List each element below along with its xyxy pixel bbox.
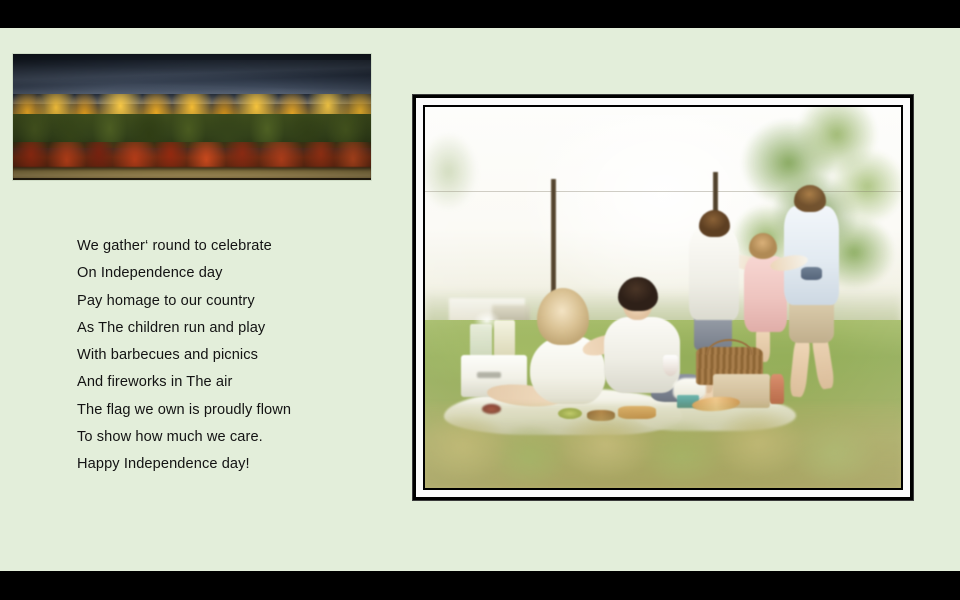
poem-line-8: To show how much we care.	[77, 424, 377, 451]
letterbox-bar-top	[0, 0, 960, 28]
letterbox-bar-bottom	[0, 571, 960, 600]
forest-dark-foreground	[13, 178, 371, 180]
poem-text-block: We gather‘ round to celebrate On Indepen…	[77, 233, 377, 479]
picnic-photo-image	[425, 107, 901, 488]
slide-root: We gather‘ round to celebrate On Indepen…	[0, 0, 960, 600]
picnic-photo-mat	[416, 98, 910, 497]
slide-canvas: We gather‘ round to celebrate On Indepen…	[0, 28, 960, 571]
picnic-photo-frame[interactable]	[413, 95, 913, 500]
poem-line-4: As The children run and play	[77, 315, 377, 342]
poem-line-5: With barbecues and picnics	[77, 342, 377, 369]
poem-line-6: And fireworks in The air	[77, 369, 377, 396]
poem-line-3: Pay homage to our country	[77, 288, 377, 315]
poem-line-2: On Independence day	[77, 260, 377, 287]
photo-soft-glow-overlay	[425, 107, 901, 488]
poem-line-7: The flag we own is proudly flown	[77, 397, 377, 424]
poem-line-1: We gather‘ round to celebrate	[77, 233, 377, 260]
poem-line-9: Happy Independence day!	[77, 451, 377, 478]
autumn-forest-image[interactable]	[13, 54, 371, 180]
